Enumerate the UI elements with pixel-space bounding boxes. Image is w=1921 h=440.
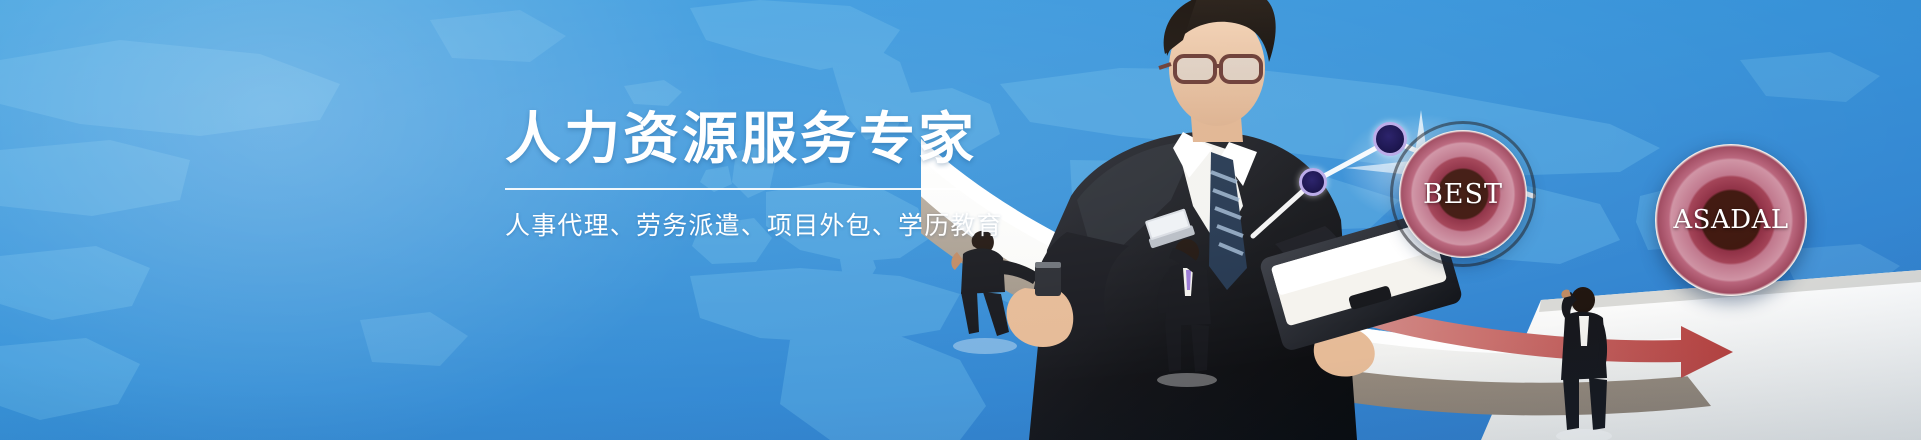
page-subtitle: 人事代理、劳务派遣、项目外包、学历教育 (505, 206, 975, 242)
network-node-2 (1373, 122, 1407, 156)
badge-asadal-label: ASADAL (1673, 205, 1788, 235)
photo-composition: BEST ASADAL (921, 0, 1921, 440)
hero-banner: BEST ASADAL 人力资源服务专家 人事代理、劳务派遣、项目外包、学历教育 (0, 0, 1921, 440)
network-node-3 (1467, 162, 1497, 192)
badge-best: BEST (1399, 130, 1527, 258)
page-title: 人力资源服务专家 (505, 108, 975, 172)
network-node-1 (1299, 168, 1327, 196)
title-divider (505, 188, 967, 190)
badge-best-label: BEST (1423, 179, 1503, 210)
badge-asadal: ASADAL (1655, 144, 1807, 296)
headline-block: 人力资源服务专家 人事代理、劳务派遣、项目外包、学历教育 (505, 108, 975, 242)
